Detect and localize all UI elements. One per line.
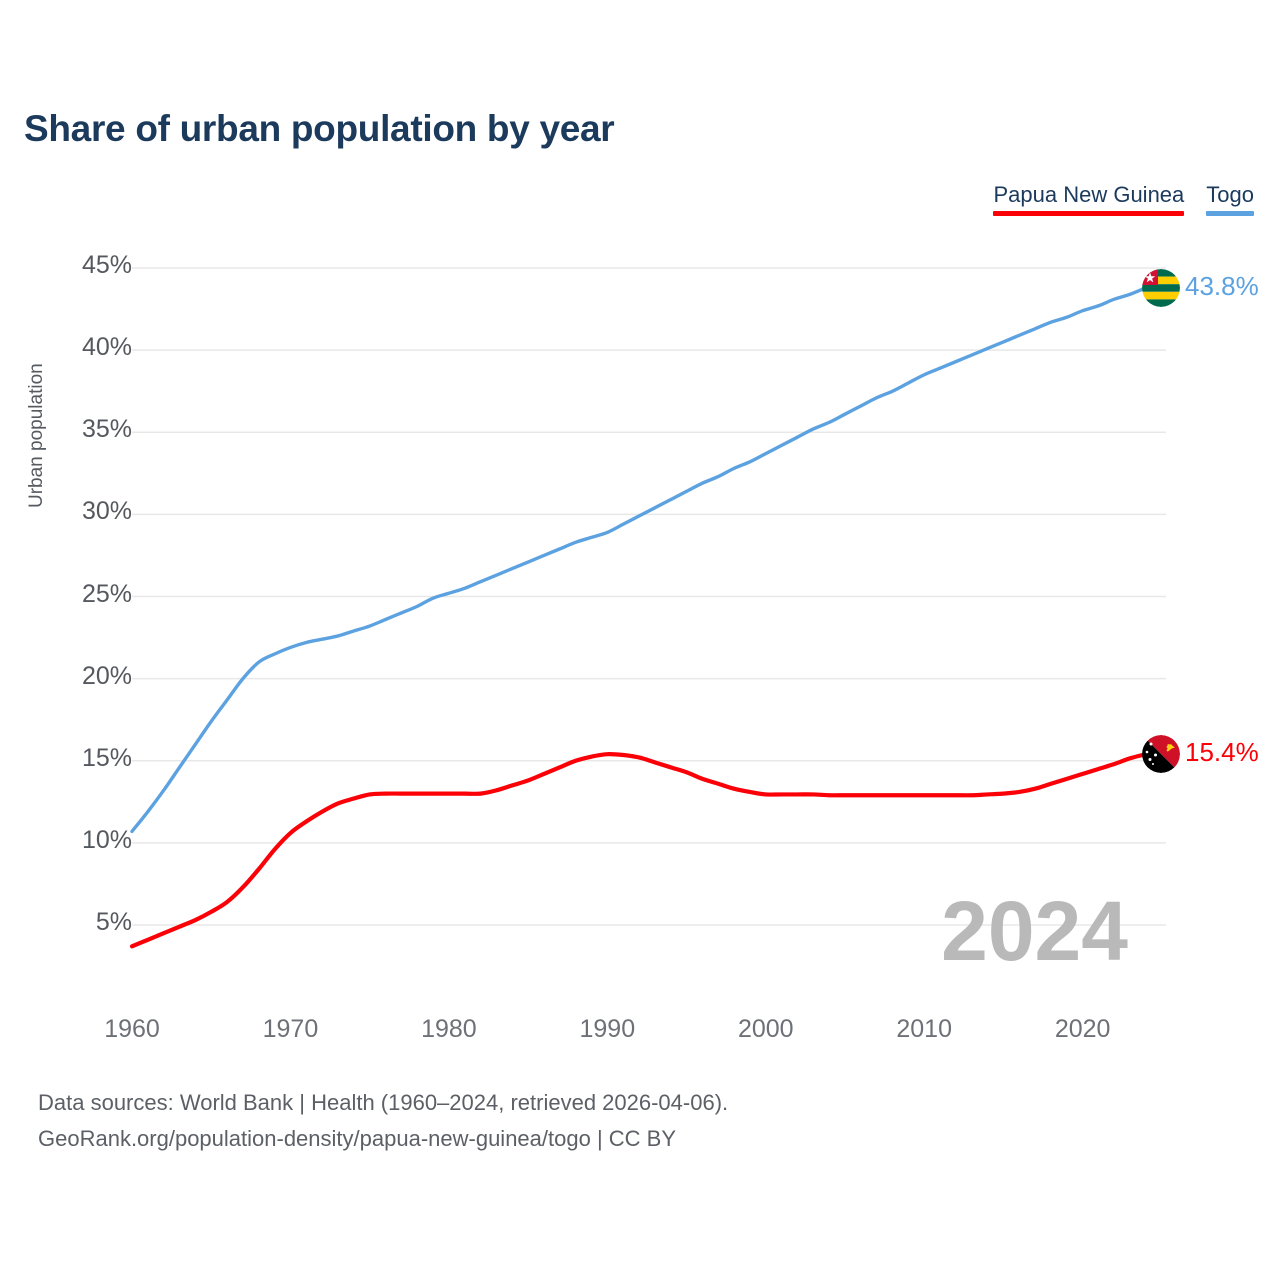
chart-container: Share of urban population by year Papua … (0, 0, 1280, 1280)
papua-new-guinea-flag-icon (1142, 735, 1180, 773)
togo-end-label: 43.8% (1185, 271, 1259, 302)
plot-area (0, 0, 1280, 1280)
footer-line-1: Data sources: World Bank | Health (1960–… (38, 1090, 728, 1116)
year-watermark: 2024 (941, 889, 1128, 973)
togo-flag-icon (1142, 269, 1180, 307)
footer-line-2: GeoRank.org/population-density/papua-new… (38, 1126, 676, 1152)
papua-new-guinea-end-label: 15.4% (1185, 737, 1259, 768)
series-line-togo (132, 288, 1146, 832)
